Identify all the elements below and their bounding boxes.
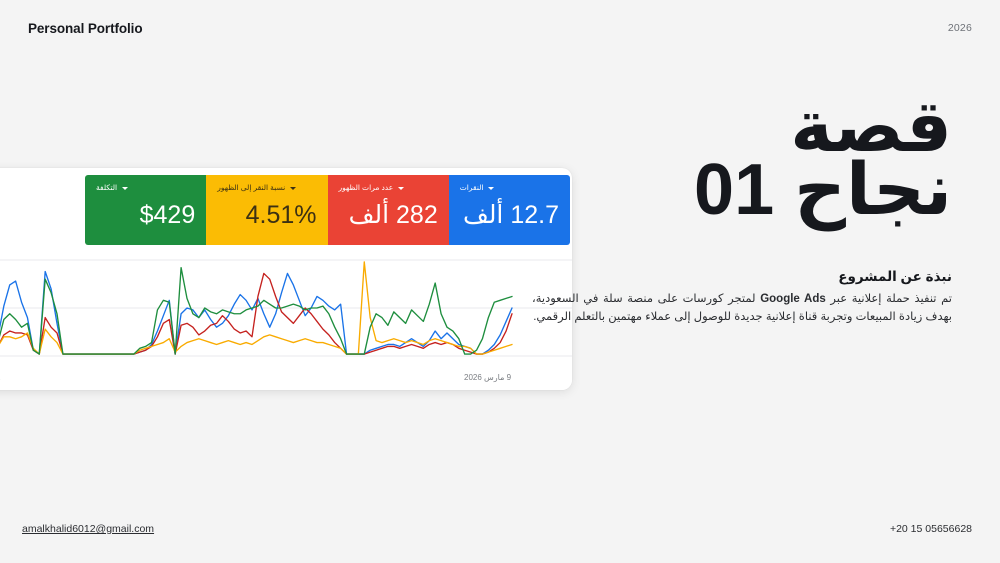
chevron-down-icon[interactable] — [122, 187, 128, 190]
metric-card-impressions[interactable]: عدد مرات الظهور 282 ألف — [328, 175, 449, 245]
year-label: 2026 — [948, 22, 972, 34]
dashboard-panel: التكلفة $429 نسبة النقر إلى الظهور 4.51%… — [0, 168, 572, 390]
metric-card-ctr-header[interactable]: نسبة النقر إلى الظهور — [217, 182, 316, 194]
metric-cards-row: التكلفة $429 نسبة النقر إلى الظهور 4.51%… — [85, 175, 570, 245]
footer-phone: +20 15 05656628 — [890, 523, 972, 535]
about-section-body: تم تنفيذ حملة إعلانية عبر Google Ads لمت… — [532, 290, 952, 327]
metric-card-impressions-value: 282 ألف — [339, 200, 438, 230]
about-section-heading: نبذة عن المشروع — [532, 269, 952, 285]
metric-card-cost-header[interactable]: التكلفة — [96, 182, 195, 194]
chevron-down-icon[interactable] — [488, 187, 494, 190]
about-body-brand: Google Ads — [760, 293, 826, 305]
metric-card-ctr-value: 4.51% — [217, 200, 316, 230]
metric-card-ctr-label: نسبة النقر إلى الظهور — [217, 182, 285, 194]
hero-heading-line-2: نجاح 01 — [532, 159, 952, 222]
metric-card-clicks-label: النقرات — [460, 182, 484, 194]
chevron-down-icon[interactable] — [398, 187, 404, 190]
metric-card-cost-label: التكلفة — [96, 182, 117, 194]
chevron-down-icon[interactable] — [290, 187, 296, 190]
content-column: قصة نجاح 01 نبذة عن المشروع تم تنفيذ حمل… — [532, 96, 952, 327]
metric-card-impressions-label: عدد مرات الظهور — [339, 182, 394, 194]
performance-chart-svg — [0, 254, 572, 366]
slide-footer: amalkhalid6012@gmail.com +20 15 05656628 — [0, 503, 1000, 563]
brand-title: Personal Portfolio — [28, 21, 142, 36]
metric-card-cost[interactable]: التكلفة $429 — [85, 175, 206, 245]
metric-card-impressions-header[interactable]: عدد مرات الظهور — [339, 182, 438, 194]
about-body-before: تم تنفيذ حملة إعلانية عبر — [826, 293, 952, 305]
hero-heading: قصة نجاح 01 — [532, 96, 952, 223]
metric-card-ctr[interactable]: نسبة النقر إلى الظهور 4.51% — [206, 175, 327, 245]
footer-email[interactable]: amalkhalid6012@gmail.com — [22, 523, 154, 535]
performance-chart: 1 9 مارس 2026 — [0, 254, 572, 390]
metric-card-cost-value: $429 — [96, 200, 195, 230]
slide-header: Personal Portfolio 2026 — [0, 0, 1000, 56]
chart-x-axis-label-end: 9 مارس 2026 — [464, 373, 511, 382]
